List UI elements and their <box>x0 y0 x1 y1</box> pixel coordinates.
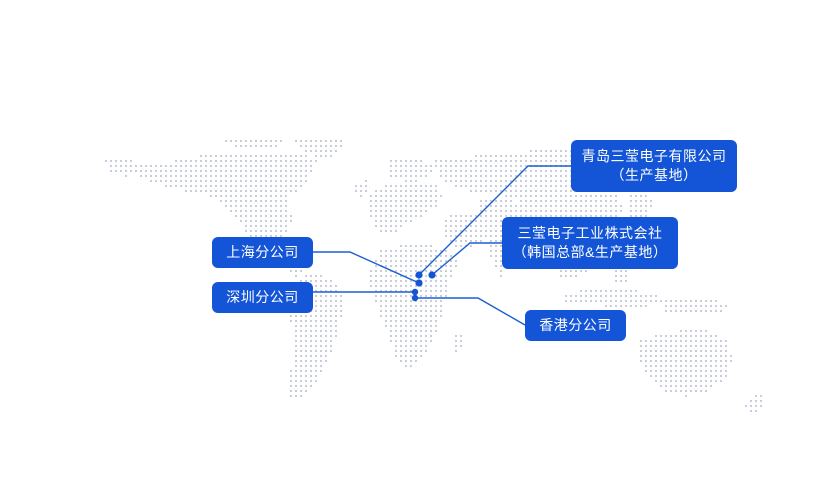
shenzhen-label[interactable]: 深圳分公司 <box>212 282 313 313</box>
korea-hq-label-line1: 三莹电子工业株式会社 <box>518 224 663 243</box>
world-map-background <box>0 0 824 480</box>
shenzhen-label-line1: 深圳分公司 <box>226 288 299 307</box>
hongkong-label-line1: 香港分公司 <box>539 316 612 335</box>
shanghai-label[interactable]: 上海分公司 <box>212 237 313 268</box>
korea-hq-label-line2: （韩国总部&生产基地） <box>513 243 668 262</box>
qingdao-label-line1: 青岛三莹电子有限公司 <box>582 147 727 166</box>
qingdao-label[interactable]: 青岛三莹电子有限公司 （生产基地） <box>571 140 737 192</box>
korea-hq-label[interactable]: 三莹电子工业株式会社 （韩国总部&生产基地） <box>502 217 678 269</box>
location-map-infographic: 青岛三莹电子有限公司 （生产基地） 三莹电子工业株式会社 （韩国总部&生产基地）… <box>0 0 824 480</box>
qingdao-label-line2: （生产基地） <box>611 166 698 185</box>
hongkong-label[interactable]: 香港分公司 <box>525 310 626 341</box>
world-map-dots <box>0 0 824 480</box>
shanghai-label-line1: 上海分公司 <box>226 243 299 262</box>
